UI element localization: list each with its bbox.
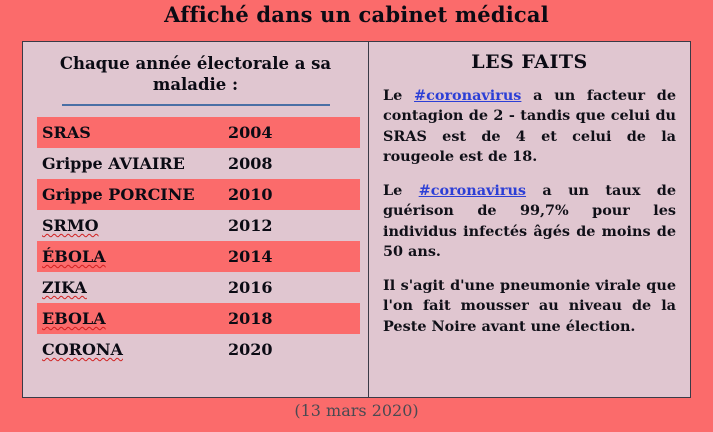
disease-year: 2008: [214, 148, 273, 179]
heading-divider: [62, 104, 330, 106]
table-row: SRAS2004: [37, 117, 360, 148]
right-panel-heading: LES FAITS: [383, 51, 676, 73]
disease-name: CORONA: [37, 334, 214, 365]
left-panel: Chaque année électorale a sa maladie : S…: [23, 42, 369, 397]
fact-paragraph: Le #coronavirus a un facteur de contagio…: [383, 86, 676, 168]
disease-name: ÉBOLA: [37, 241, 214, 272]
left-panel-heading: Chaque année électorale a sa maladie :: [43, 53, 348, 95]
footer-date: (13 mars 2020): [0, 401, 713, 420]
table-row: ÉBOLA2014: [37, 241, 360, 272]
disease-year: 2016: [214, 272, 273, 303]
table-row: Grippe PORCINE2010: [37, 179, 360, 210]
fact-paragraph: Le #coronavirus a un taux de guérison de…: [383, 181, 676, 263]
disease-name: Grippe AVIAIRE: [37, 148, 214, 179]
page-title: Affiché dans un cabinet médical: [0, 2, 713, 27]
poster-root: Affiché dans un cabinet médical Chaque a…: [0, 0, 713, 432]
disease-year: 2018: [214, 303, 273, 334]
hashtag-link[interactable]: #coronavirus: [419, 182, 526, 199]
disease-name: Grippe PORCINE: [37, 179, 214, 210]
table-row: Grippe AVIAIRE2008: [37, 148, 360, 179]
disease-year: 2010: [214, 179, 273, 210]
disease-name: SRMO: [37, 210, 214, 241]
table-row: EBOLA2018: [37, 303, 360, 334]
disease-list: SRAS2004Grippe AVIAIRE2008Grippe PORCINE…: [23, 117, 368, 365]
paragraph-text-before: Il s'agit d'une pneumonie virale que l'o…: [383, 277, 676, 335]
disease-year: 2012: [214, 210, 273, 241]
table-row: SRMO2012: [37, 210, 360, 241]
disease-year: 2014: [214, 241, 273, 272]
paragraph-text-before: Le: [383, 182, 419, 199]
disease-year: 2004: [214, 117, 273, 148]
right-panel: LES FAITS Le #coronavirus a un facteur d…: [369, 42, 690, 397]
disease-name: SRAS: [37, 117, 214, 148]
facts-paragraphs: Le #coronavirus a un facteur de contagio…: [383, 86, 676, 337]
paragraph-text-before: Le: [383, 87, 414, 104]
table-row: ZIKA2016: [37, 272, 360, 303]
disease-name: ZIKA: [37, 272, 214, 303]
disease-name: EBOLA: [37, 303, 214, 334]
disease-year: 2020: [214, 334, 273, 365]
hashtag-link[interactable]: #coronavirus: [414, 87, 521, 104]
fact-paragraph: Il s'agit d'une pneumonie virale que l'o…: [383, 276, 676, 337]
content-board: Chaque année électorale a sa maladie : S…: [22, 41, 691, 398]
table-row: CORONA2020: [37, 334, 360, 365]
